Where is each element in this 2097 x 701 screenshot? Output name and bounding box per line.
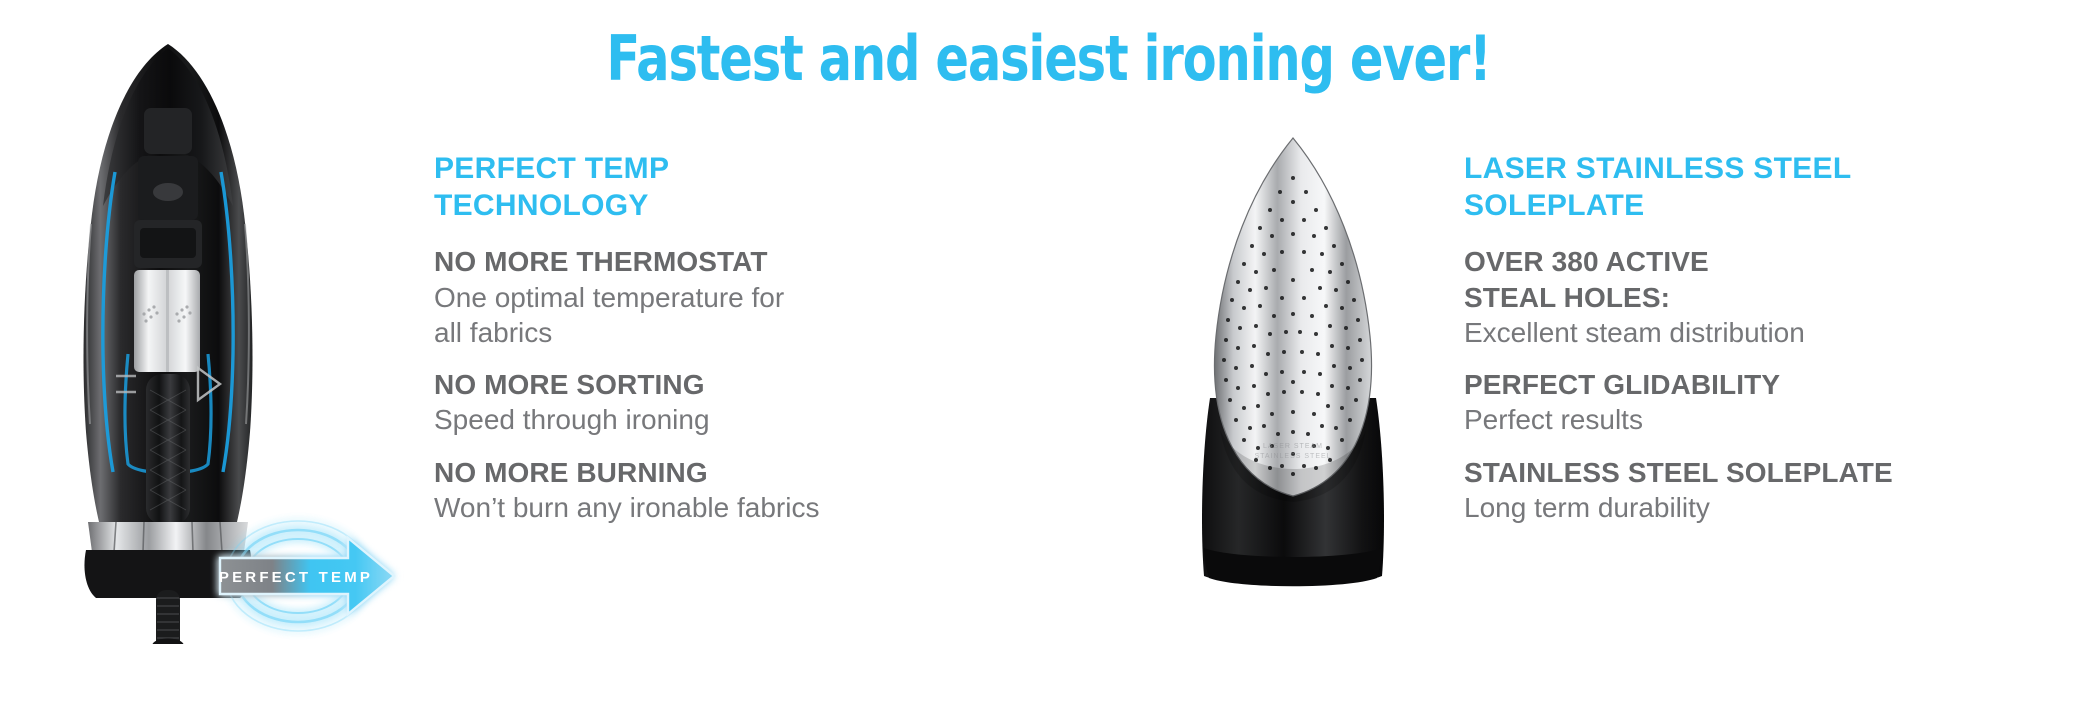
feature-stainless-steel-soleplate: STAINLESS STEEL SOLEPLATE Long term dura… (1464, 455, 2044, 526)
feature-active-steam-holes: OVER 380 ACTIVE STEAL HOLES: Excellent s… (1464, 244, 2044, 350)
feature-title: NO MORE BURNING (434, 455, 994, 490)
soleplate-engraving-sub: STAINLESS STEEL (1254, 453, 1331, 460)
feature-description: Won’t burn any ironable fabrics (434, 490, 994, 525)
left-feature-column: PERFECT TEMP TECHNOLOGY NO MORE THERMOST… (434, 150, 994, 525)
right-iron-soleplate-image: LASER STEAM STAINLESS STEEL (1148, 130, 1438, 620)
perfect-temp-badge-label: PERFECT TEMP (219, 569, 373, 586)
feature-title: OVER 380 ACTIVE STEAL HOLES: (1464, 244, 2044, 315)
page-headline: Fastest and easiest ironing ever! (210, 26, 1888, 91)
feature-title: NO MORE SORTING (434, 367, 994, 402)
right-feature-column: LASER STAINLESS STEEL SOLEPLATE OVER 380… (1464, 150, 2044, 525)
left-column-title: PERFECT TEMP TECHNOLOGY (434, 150, 994, 224)
feature-perfect-glidability: PERFECT GLIDABILITY Perfect results (1464, 367, 2044, 438)
feature-description: Speed through ironing (434, 402, 994, 437)
perfect-temp-badge: PERFECT TEMP (198, 508, 418, 644)
feature-no-more-thermostat: NO MORE THERMOSTAT One optimal temperatu… (434, 244, 994, 350)
feature-no-more-sorting: NO MORE SORTING Speed through ironing (434, 367, 994, 438)
feature-description: Perfect results (1464, 402, 2044, 437)
feature-no-more-burning: NO MORE BURNING Won’t burn any ironable … (434, 455, 994, 526)
feature-description: Long term durability (1464, 490, 2044, 525)
right-column-title: LASER STAINLESS STEEL SOLEPLATE (1464, 150, 2044, 224)
feature-description: Excellent steam distribution (1464, 315, 2044, 350)
feature-description: One optimal temperature for all fabrics (434, 280, 994, 351)
feature-title: NO MORE THERMOSTAT (434, 244, 994, 279)
feature-title: PERFECT GLIDABILITY (1464, 367, 2044, 402)
soleplate-engraving: LASER STEAM (1263, 443, 1323, 450)
feature-title: STAINLESS STEEL SOLEPLATE (1464, 455, 2044, 490)
marketing-banner: Fastest and easiest ironing ever! (0, 0, 2097, 701)
